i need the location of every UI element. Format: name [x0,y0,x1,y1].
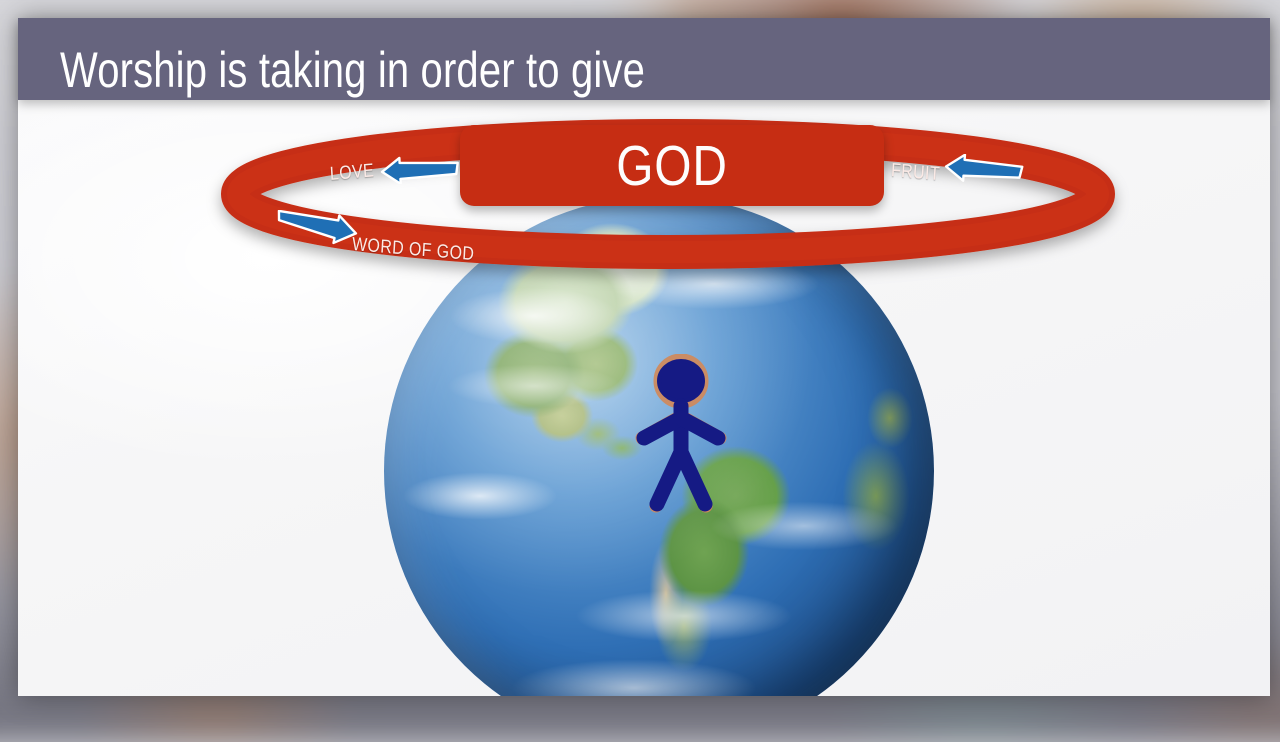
ring-label-fruit: FRUIT [890,160,940,186]
slide-title-bar: Worship is taking in order to give [18,18,1270,100]
god-banner-label: GOD [494,125,850,206]
ring-label-love: LOVE [329,160,374,186]
left-arrow-icon [376,156,460,189]
slide-content-stage: GOD LOVE FRUIT WORD OF GOD [18,18,1270,696]
page-title: Worship is taking in order to give [60,44,645,96]
god-banner: GOD [460,125,884,206]
stick-figure-icon [626,354,736,524]
right-arrow-icon [270,210,362,253]
left-arrow-icon [940,154,1024,189]
